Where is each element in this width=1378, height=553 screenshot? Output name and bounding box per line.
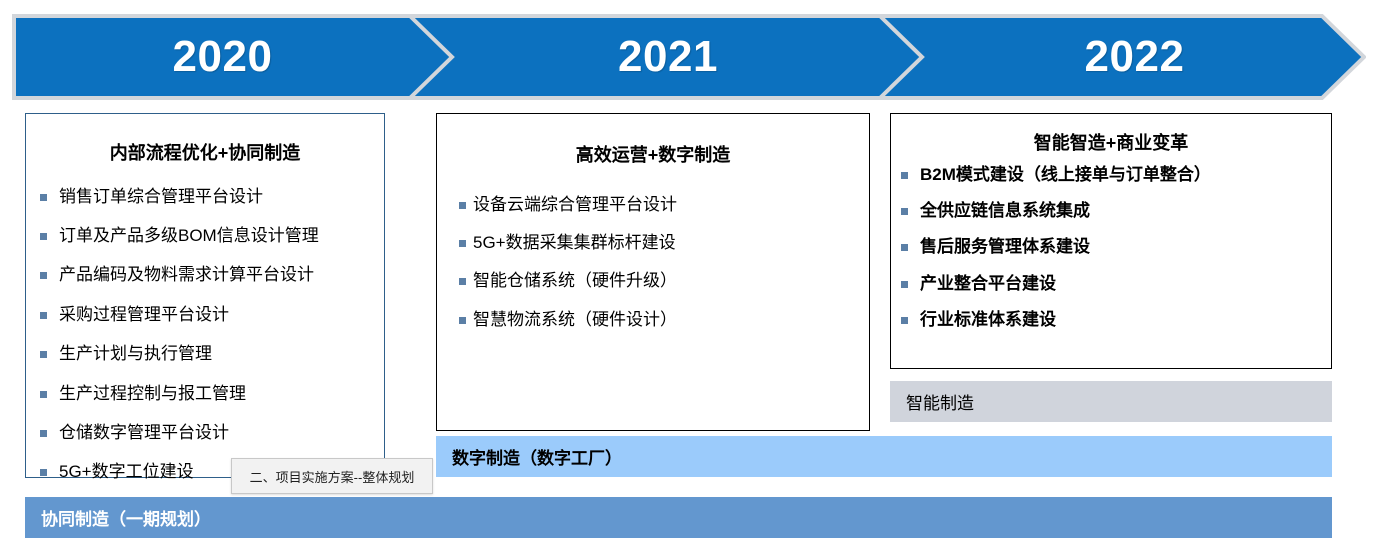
slide-caption-tooltip: 二、项目实施方案--整体规划 (231, 458, 433, 494)
square-bullet-icon (901, 172, 908, 179)
list-item: 采购过程管理平台设计 (40, 305, 384, 325)
square-bullet-icon (459, 202, 466, 209)
list-item-label: 售后服务管理体系建设 (920, 237, 1090, 257)
phase-card-2020-list: 销售订单综合管理平台设计 订单及产品多级BOM信息设计管理 产品编码及物料需求计… (40, 187, 384, 483)
list-item-label: B2M模式建设（线上接单与订单整合） (920, 165, 1211, 185)
list-item-label: 产品编码及物料需求计算平台设计 (59, 265, 314, 285)
square-bullet-icon (459, 278, 466, 285)
list-item: B2M模式建设（线上接单与订单整合） (891, 165, 1331, 185)
list-item-label: 设备云端综合管理平台设计 (473, 195, 677, 215)
square-bullet-icon (901, 208, 908, 215)
year-label-2020: 2020 (12, 14, 433, 100)
list-item: 销售订单综合管理平台设计 (40, 187, 384, 207)
phase-card-2022-list: B2M模式建设（线上接单与订单整合） 全供应链信息系统集成 售后服务管理体系建设… (891, 165, 1331, 331)
list-item: 产业整合平台建设 (891, 274, 1331, 294)
list-item: 售后服务管理体系建设 (891, 237, 1331, 257)
year-label-2022: 2022 (903, 14, 1366, 100)
phase-card-2021: 高效运营+数字制造 设备云端综合管理平台设计 5G+数据采集集群标杆建设 智能仓… (436, 113, 870, 431)
maturity-band-smart-manufacturing: 智能制造 (890, 381, 1332, 422)
square-bullet-icon (40, 430, 47, 437)
list-item: 产品编码及物料需求计算平台设计 (40, 265, 384, 285)
list-item: 全供应链信息系统集成 (891, 201, 1331, 221)
list-item-label: 5G+数据采集集群标杆建设 (473, 233, 676, 253)
phase-card-2020: 内部流程优化+协同制造 销售订单综合管理平台设计 订单及产品多级BOM信息设计管… (25, 113, 385, 478)
square-bullet-icon (901, 281, 908, 288)
list-item: 设备云端综合管理平台设计 (459, 195, 869, 215)
phase-card-2021-list: 设备云端综合管理平台设计 5G+数据采集集群标杆建设 智能仓储系统（硬件升级） … (459, 195, 869, 331)
square-bullet-icon (40, 194, 47, 201)
square-bullet-icon (40, 469, 47, 476)
maturity-band-digital-manufacturing-label: 数字制造（数字工厂） (436, 444, 622, 469)
list-item: 仓储数字管理平台设计 (40, 423, 384, 443)
list-item-label: 智能仓储系统（硬件升级） (473, 271, 677, 291)
maturity-band-smart-manufacturing-label: 智能制造 (890, 389, 974, 414)
slide-caption-tooltip-label: 二、项目实施方案--整体规划 (250, 467, 415, 486)
year-timeline-banner: 2020 2021 2022 (12, 14, 1366, 100)
maturity-band-digital-manufacturing: 数字制造（数字工厂） (436, 436, 1332, 477)
list-item-label: 订单及产品多级BOM信息设计管理 (59, 226, 319, 246)
phase-card-2022-title: 智能智造+商业变革 (891, 133, 1331, 155)
maturity-band-collaborative-manufacturing: 协同制造（一期规划） (25, 497, 1332, 538)
phase-card-2021-title: 高效运营+数字制造 (437, 145, 869, 167)
year-labels: 2020 2021 2022 (12, 14, 1366, 100)
square-bullet-icon (40, 391, 47, 398)
list-item: 智能仓储系统（硬件升级） (459, 271, 869, 291)
list-item: 订单及产品多级BOM信息设计管理 (40, 226, 384, 246)
list-item: 5G+数据采集集群标杆建设 (459, 233, 869, 253)
list-item: 生产计划与执行管理 (40, 344, 384, 364)
square-bullet-icon (40, 312, 47, 319)
list-item-label: 采购过程管理平台设计 (59, 305, 229, 325)
list-item-label: 智慧物流系统（硬件设计） (473, 310, 677, 330)
phase-card-2020-title: 内部流程优化+协同制造 (26, 143, 384, 165)
list-item-label: 全供应链信息系统集成 (920, 201, 1090, 221)
list-item-label: 仓储数字管理平台设计 (59, 423, 229, 443)
square-bullet-icon (40, 272, 47, 279)
square-bullet-icon (901, 244, 908, 251)
list-item-label: 生产过程控制与报工管理 (59, 384, 246, 404)
square-bullet-icon (459, 240, 466, 247)
list-item-label: 生产计划与执行管理 (59, 344, 212, 364)
square-bullet-icon (459, 317, 466, 324)
list-item-label: 产业整合平台建设 (920, 274, 1056, 294)
square-bullet-icon (40, 351, 47, 358)
list-item-label: 销售订单综合管理平台设计 (59, 187, 263, 207)
list-item: 行业标准体系建设 (891, 310, 1331, 330)
list-item-label: 行业标准体系建设 (920, 310, 1056, 330)
year-label-2021: 2021 (433, 14, 903, 100)
list-item-label: 5G+数字工位建设 (59, 462, 194, 482)
list-item: 生产过程控制与报工管理 (40, 384, 384, 404)
square-bullet-icon (40, 233, 47, 240)
list-item: 智慧物流系统（硬件设计） (459, 310, 869, 330)
square-bullet-icon (901, 317, 908, 324)
phase-card-2022: 智能智造+商业变革 B2M模式建设（线上接单与订单整合） 全供应链信息系统集成 … (890, 113, 1332, 369)
maturity-band-collaborative-manufacturing-label: 协同制造（一期规划） (25, 505, 211, 530)
